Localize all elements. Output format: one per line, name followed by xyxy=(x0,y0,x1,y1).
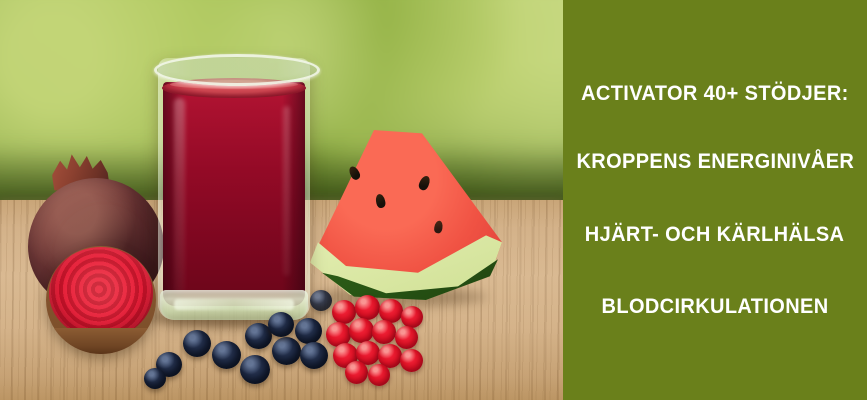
blueberry xyxy=(183,330,211,357)
blueberry xyxy=(240,355,270,384)
blueberry xyxy=(272,337,301,365)
blueberry xyxy=(300,342,328,369)
blueberry xyxy=(310,290,332,311)
panel-heading: ACTIVATOR 40+ STÖDJER: xyxy=(581,83,849,105)
panel-benefit-2: HJÄRT- OCH KÄRLHÄLSA xyxy=(585,224,845,246)
watermelon-wedge xyxy=(306,130,506,300)
glass-of-juice xyxy=(158,58,310,320)
red-currant xyxy=(400,349,423,372)
red-currant xyxy=(395,326,418,349)
product-photo xyxy=(0,0,563,400)
red-currant xyxy=(355,295,380,320)
blueberry xyxy=(268,312,294,337)
red-currant xyxy=(401,306,423,328)
beet-cut-face xyxy=(49,247,153,339)
blueberry xyxy=(212,341,241,369)
red-currant xyxy=(349,318,374,343)
blueberry xyxy=(295,318,322,344)
promo-banner: ACTIVATOR 40+ STÖDJER: KROPPENS ENERGINI… xyxy=(0,0,867,400)
red-currant xyxy=(368,364,390,386)
benefits-panel: ACTIVATOR 40+ STÖDJER: KROPPENS ENERGINI… xyxy=(563,0,867,400)
red-currant xyxy=(372,320,396,344)
panel-benefit-1: KROPPENS ENERGINIVÅER xyxy=(576,151,854,173)
red-currant xyxy=(345,361,368,384)
halved-beet xyxy=(46,246,156,354)
glass-highlight-right xyxy=(283,106,290,276)
blueberry xyxy=(144,368,166,389)
glass-rim xyxy=(154,54,320,86)
panel-benefit-3: BLODCIRKULATIONEN xyxy=(601,296,828,318)
glass-highlight-left xyxy=(174,98,185,294)
